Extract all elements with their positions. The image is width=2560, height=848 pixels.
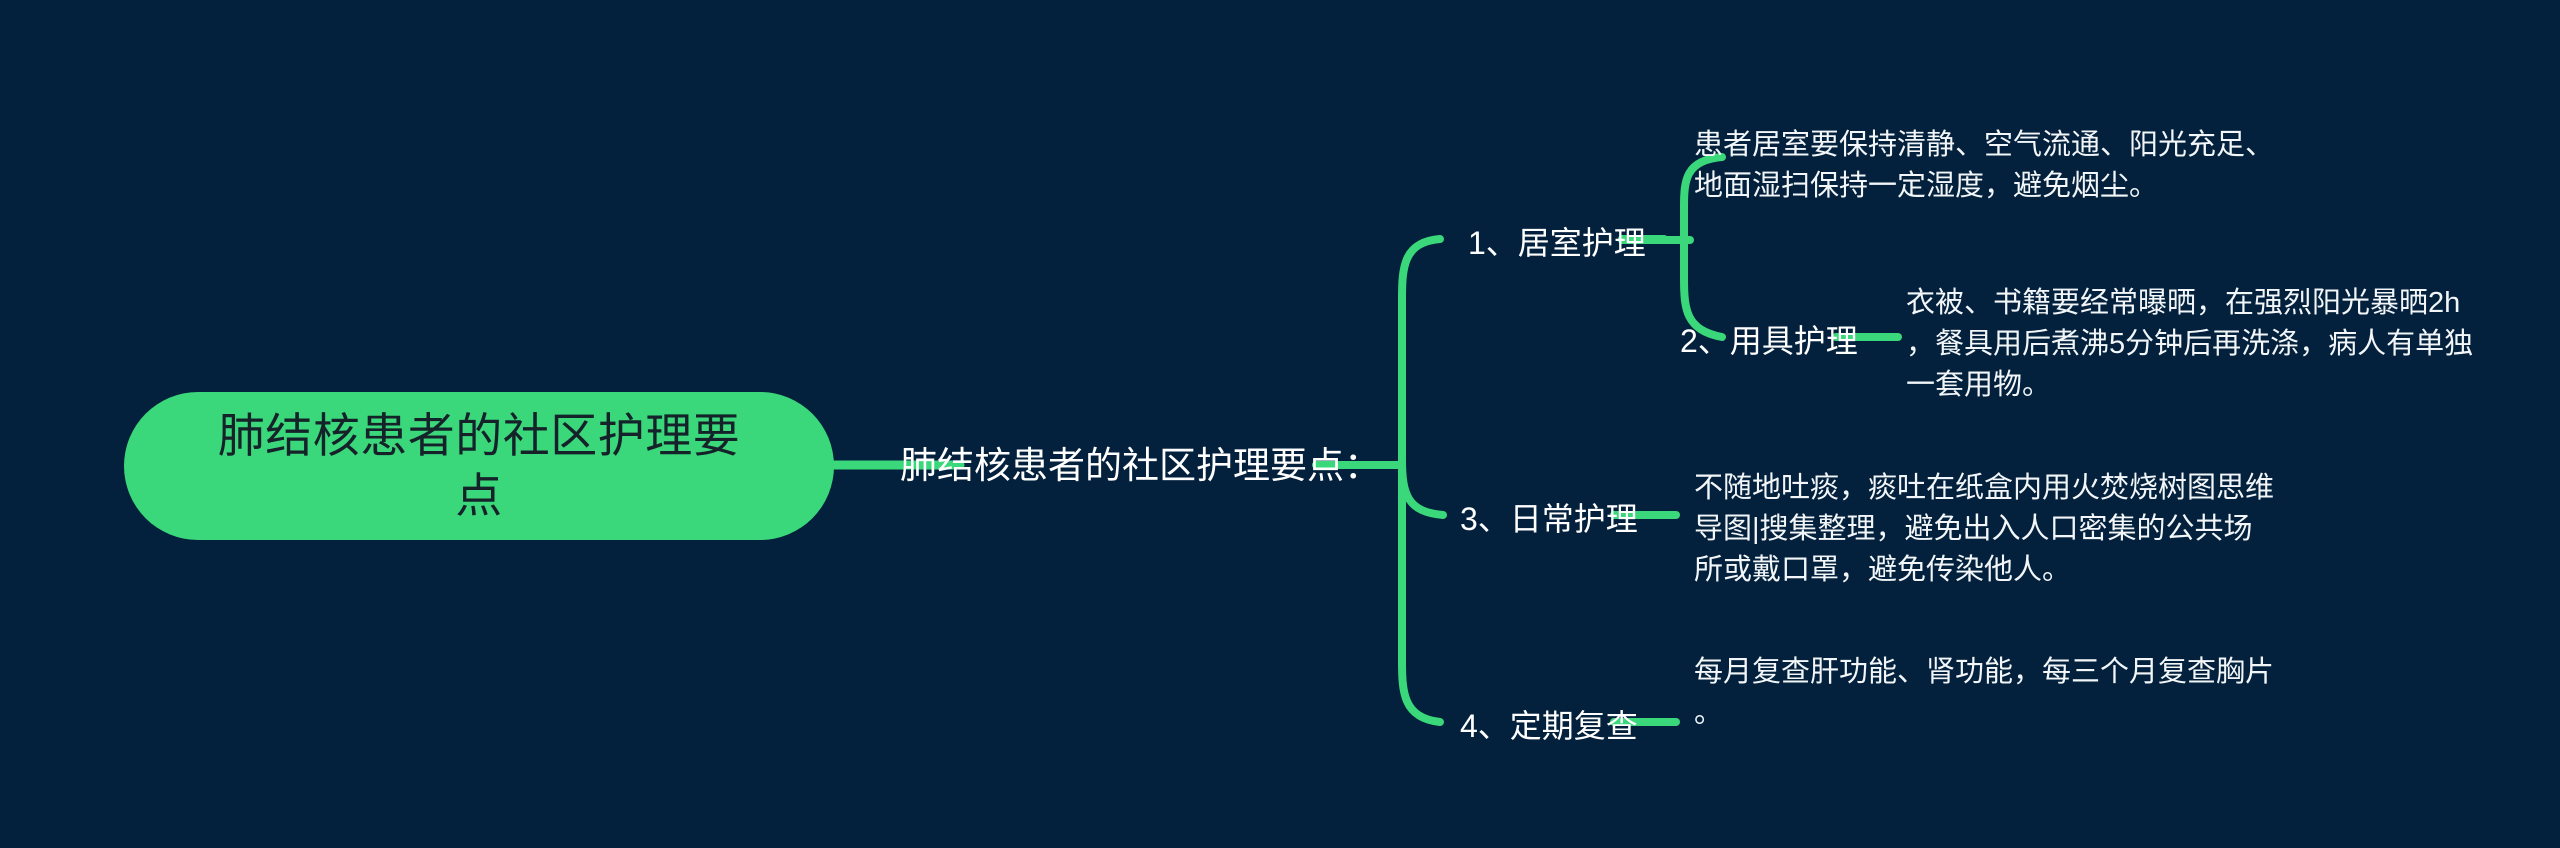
- mindmap-canvas: 肺结核患者的社区护理要 点 肺结核患者的社区护理要点： 1、居室护理 患者居室要…: [0, 0, 2560, 848]
- root-node-label: 肺结核患者的社区护理要 点: [218, 406, 741, 526]
- branch-label-1[interactable]: 1、居室护理: [1468, 223, 1646, 263]
- center-node-label: 肺结核患者的社区护理要点：: [900, 443, 1381, 489]
- branch-label-3[interactable]: 3、日常护理: [1460, 499, 1638, 539]
- branch-label-2[interactable]: 2、用具护理: [1680, 321, 1858, 361]
- branch-label-4[interactable]: 4、定期复查: [1460, 706, 1638, 746]
- branch-body-3: 不随地吐痰，痰吐在纸盒内用火焚烧树图思维 导图|搜集整理，避免出入人口密集的公共…: [1694, 468, 2314, 592]
- center-node[interactable]: 肺结核患者的社区护理要点：: [900, 440, 1381, 492]
- root-node[interactable]: 肺结核患者的社区护理要 点: [124, 392, 834, 540]
- branch-body-2: 衣被、书籍要经常曝晒，在强烈阳光暴晒2h ，餐具用后煮沸5分钟后再洗涤，病人有单…: [1906, 283, 2486, 407]
- branch-body-1: 患者居室要保持清静、空气流通、阳光充足、 地面湿扫保持一定湿度，避免烟尘。: [1694, 125, 2394, 207]
- branch-body-4: 每月复查肝功能、肾功能，每三个月复查胸片 。: [1694, 652, 2294, 734]
- wire-main-trunk: [1402, 239, 1440, 722]
- wire-trunk-to-branch-3: [1402, 460, 1443, 515]
